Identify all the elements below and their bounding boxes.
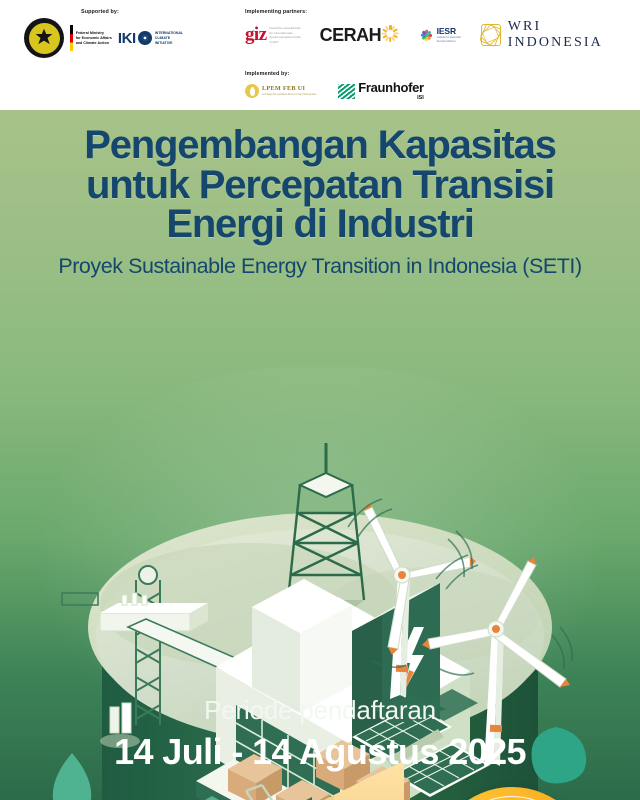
cerah-logo: CERAH (320, 26, 400, 44)
bmwk-logo: Federal Ministry for Economic Affairs an… (70, 25, 112, 51)
implemented-by-label: Implemented by: (245, 72, 545, 77)
fraunhofer-mark-icon (338, 84, 355, 99)
iki-eye-icon (138, 31, 152, 45)
registration-date-range: 14 Juli - 14 Agustus 2025 (0, 731, 640, 773)
poster: Supported by: Federal Ministry for Econo… (0, 0, 640, 800)
giz-wordmark: giz (245, 27, 266, 43)
fraunhofer-institute-code: ISI (358, 95, 424, 101)
supported-by-label: Supported by: (81, 10, 224, 15)
wri-wordmark: WRI INDONESIA (508, 19, 625, 51)
iki-logo: IKI INTERNATIONAL CLIMATE INITIATIVE (118, 31, 183, 46)
fraunhofer-wordmark: Fraunhofer (358, 81, 424, 94)
giz-logo: giz Deutsche Gesellschaft für Internatio… (245, 26, 303, 45)
kemenko-emblem-icon (24, 18, 64, 58)
iki-wordmark: IKI (118, 31, 136, 46)
registration-period-block: Periode pendaftaran 14 Juli - 14 Agustus… (0, 695, 640, 773)
fraunhofer-logo: Fraunhofer ISI (338, 81, 424, 101)
logo-header-band: Supported by: Federal Ministry for Econo… (0, 0, 640, 110)
implementing-partners-label: Implementing partners: (245, 10, 625, 15)
lpem-wordmark: LPEM FEB UI (262, 86, 316, 92)
lpem-subtitle: Lembaga Penyelidikan Ekonomi dan Masyara… (262, 93, 316, 97)
iesr-logo: IESR Institute for Essential Services Re… (416, 25, 464, 45)
wri-indonesia-logo: WRI INDONESIA (481, 19, 625, 51)
iki-line-3: INITIATIVE (155, 41, 183, 46)
registration-period-label: Periode pendaftaran (0, 695, 640, 726)
hero-title-line-1: Pengembangan Kapasitas (0, 126, 640, 166)
iesr-wordmark: IESR (437, 27, 465, 36)
lpem-feb-ui-logo: LPEM FEB UI Lembaga Penyelidikan Ekonomi… (245, 84, 316, 98)
hero-title-line-2: untuk Percepatan Transisi (0, 166, 640, 206)
cerah-wordmark: CERAH (320, 26, 382, 44)
bmwk-line-3: and Climate Action (76, 41, 112, 46)
german-flag-icon (70, 25, 73, 51)
sunburst-icon (382, 25, 399, 42)
hero-text-block: Pengembangan Kapasitas untuk Percepatan … (0, 126, 640, 279)
iesr-subtitle: Institute for Essential Services Reform (437, 36, 465, 44)
iesr-burst-icon (416, 25, 433, 45)
hero-subtitle: Proyek Sustainable Energy Transition in … (0, 254, 640, 279)
implemented-by-group: Implemented by: LPEM FEB UI Lembaga Peny… (245, 72, 545, 101)
giz-line-3: Zusammenarbeit (GIZ) GmbH (269, 35, 302, 44)
lpem-mark-icon (245, 84, 259, 98)
poster-body: Pengembangan Kapasitas untuk Percepatan … (0, 110, 640, 800)
wri-diamond-icon (481, 24, 500, 46)
implementing-partners-group: Implementing partners: giz Deutsche Gese… (245, 10, 625, 51)
hero-title-line-3: Energi di Industri (0, 205, 640, 245)
supported-by-group: Supported by: Federal Ministry for Econo… (24, 10, 224, 58)
